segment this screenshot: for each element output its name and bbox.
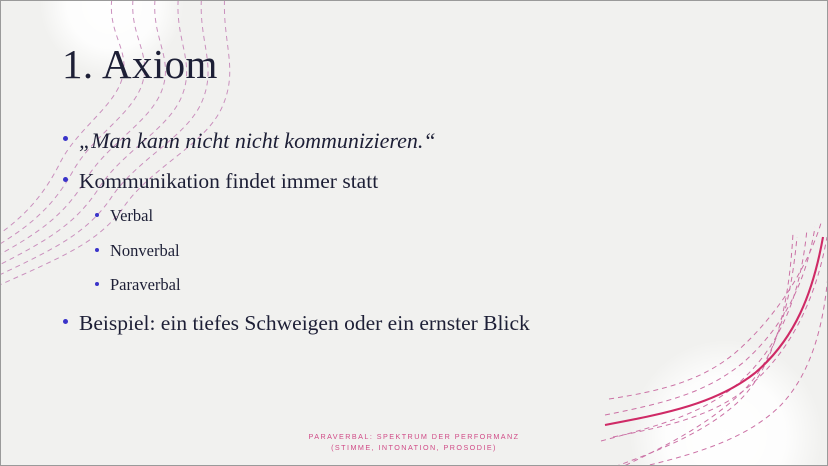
- sub-bullet-item-paraverbal: Paraverbal: [90, 275, 762, 295]
- sub-bullet-item-nonverbal: Nonverbal: [90, 241, 762, 261]
- bullet-dot-icon: [63, 136, 68, 141]
- sub-bullet-text: Paraverbal: [110, 275, 181, 294]
- sub-bullet-text: Nonverbal: [110, 241, 180, 260]
- sub-bullet-item-verbal: Verbal: [90, 206, 762, 226]
- bullet-text: Beispiel: ein tiefes Schweigen oder ein …: [79, 311, 530, 335]
- bullet-text: „Man kann nicht nicht kommunizieren.“: [79, 128, 436, 153]
- bullet-dot-icon: [63, 177, 68, 182]
- bullet-text: Kommunikation findet immer statt: [79, 169, 378, 193]
- bullet-dot-icon: [95, 213, 99, 217]
- footer-line-2: (Stimme, Intonation, Prosodie): [1, 442, 827, 453]
- footer-line-1: Paraverbal: Spektrum der Performanz: [1, 431, 827, 442]
- slide-body-list: „Man kann nicht nicht kommunizieren.“ Ko…: [62, 127, 762, 348]
- slide-footer: Paraverbal: Spektrum der Performanz (Sti…: [1, 431, 827, 453]
- bullet-item-quote: „Man kann nicht nicht kommunizieren.“: [62, 127, 762, 155]
- presentation-slide: 1. Axiom „Man kann nicht nicht kommunizi…: [0, 0, 828, 466]
- bullet-dot-icon: [63, 319, 68, 324]
- sub-bullet-text: Verbal: [110, 206, 153, 225]
- bullet-dot-icon: [95, 282, 99, 286]
- bullet-item-kommunikation: Kommunikation findet immer statt: [62, 168, 762, 195]
- sub-bullet-list: Verbal Nonverbal Paraverbal: [62, 206, 762, 295]
- bullet-dot-icon: [95, 248, 99, 252]
- slide-title: 1. Axiom: [62, 43, 218, 86]
- bullet-item-beispiel: Beispiel: ein tiefes Schweigen oder ein …: [62, 310, 762, 337]
